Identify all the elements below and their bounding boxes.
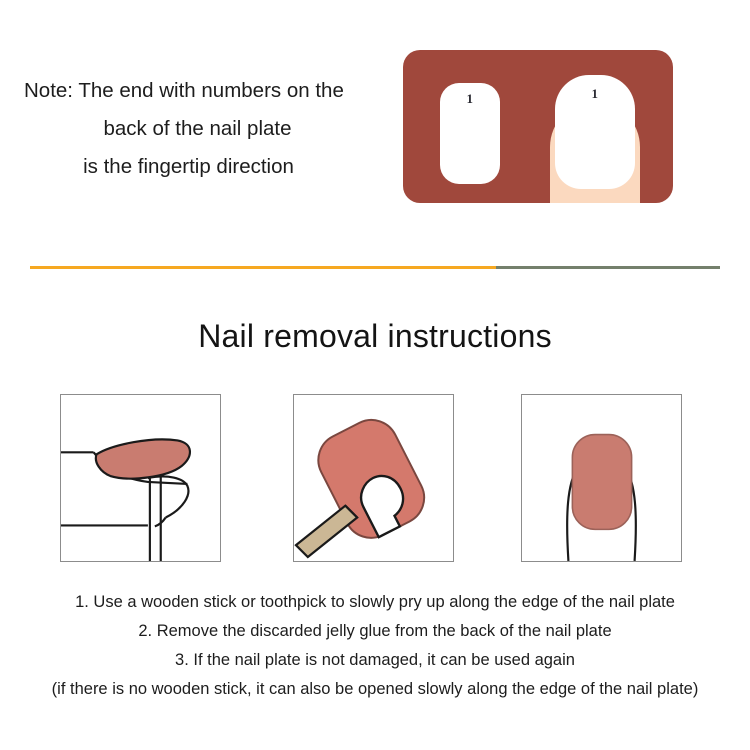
nail-card-illustration: 1 1 (403, 50, 673, 203)
step-line-1: 1. Use a wooden stick or toothpick to sl… (0, 588, 750, 617)
divider-segment-green (496, 266, 720, 269)
note-text-block: Note: The end with numbers on the back o… (10, 72, 395, 186)
nail-number-left: 1 (440, 91, 500, 107)
step-line-2: 2. Remove the discarded jelly glue from … (0, 617, 750, 646)
nail-card-background: 1 1 (403, 50, 673, 203)
note-line-3: is the fingertip direction (10, 148, 395, 186)
instruction-panel-remove-glue (293, 394, 454, 562)
section-divider (30, 266, 720, 269)
instruction-panel-reusable-plate (521, 394, 682, 562)
nail-plate-left: 1 (440, 83, 500, 184)
step-line-3: 3. If the nail plate is not damaged, it … (0, 646, 750, 675)
nail-number-right: 1 (555, 86, 635, 102)
page-title: Nail removal instructions (0, 318, 750, 355)
instruction-panel-pry-up (60, 394, 221, 562)
instruction-steps: 1. Use a wooden stick or toothpick to sl… (0, 588, 750, 704)
instruction-panels (60, 394, 690, 562)
note-line-1: Note: The end with numbers on the (10, 72, 395, 110)
note-line-2: back of the nail plate (10, 110, 395, 148)
step-line-note: (if there is no wooden stick, it can als… (0, 675, 750, 704)
note-section: Note: The end with numbers on the back o… (0, 0, 750, 250)
divider-segment-orange (30, 266, 496, 269)
nail-plate-right: 1 (555, 75, 635, 189)
